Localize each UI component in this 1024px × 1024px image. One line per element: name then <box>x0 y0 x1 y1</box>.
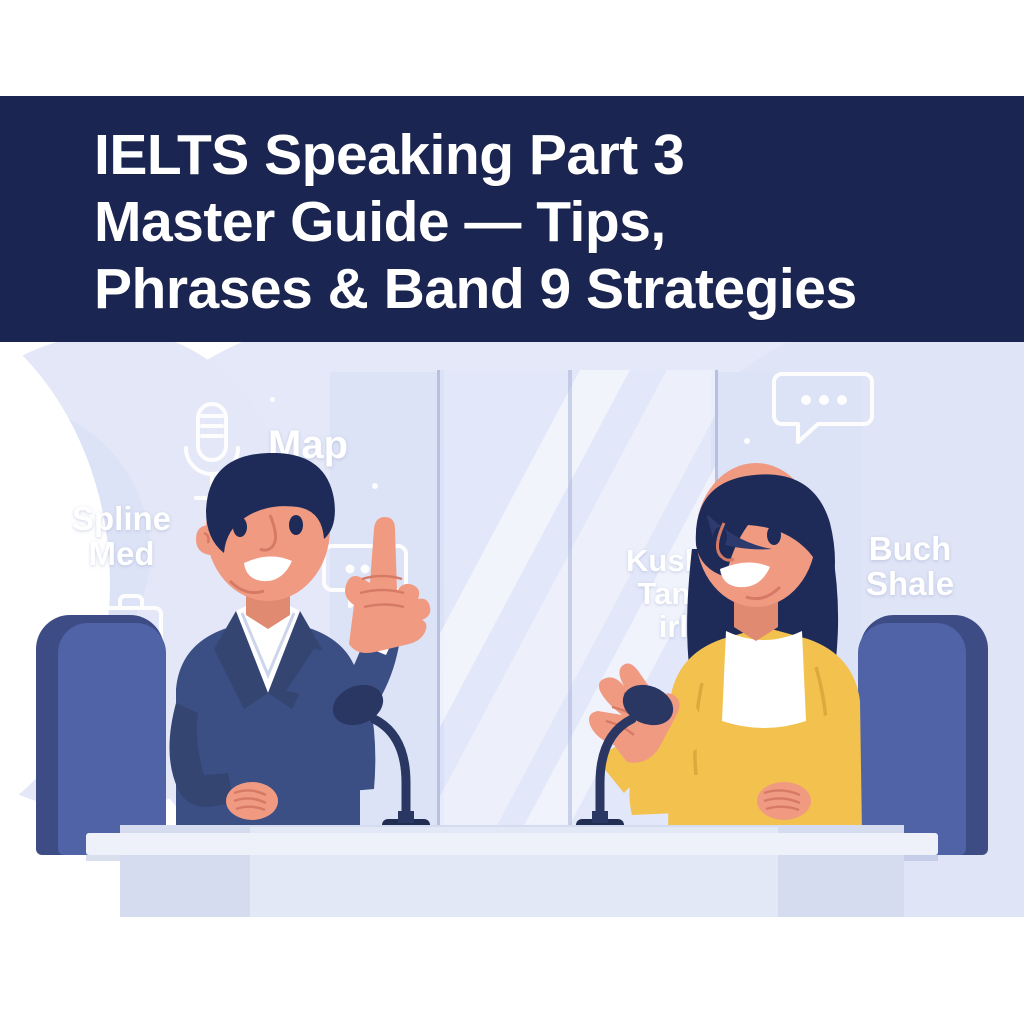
header-banner: IELTS Speaking Part 3 Master Guide — Tip… <box>0 96 1024 342</box>
microphone-right <box>566 679 676 839</box>
sparkle-dot <box>270 397 275 402</box>
sparkle-dot <box>744 438 750 444</box>
illustration-scene: $ Map Spline Med Kushe Tand irl Buch Sha… <box>0 342 1024 917</box>
page-title: IELTS Speaking Part 3 Master Guide — Tip… <box>94 122 984 323</box>
poster-root: IELTS Speaking Part 3 Master Guide — Tip… <box>0 0 1024 1024</box>
desk-top <box>86 833 938 855</box>
microphone-left <box>330 679 440 839</box>
bottom-margin <box>0 917 1024 1024</box>
speech-bubble-icon <box>770 370 876 446</box>
